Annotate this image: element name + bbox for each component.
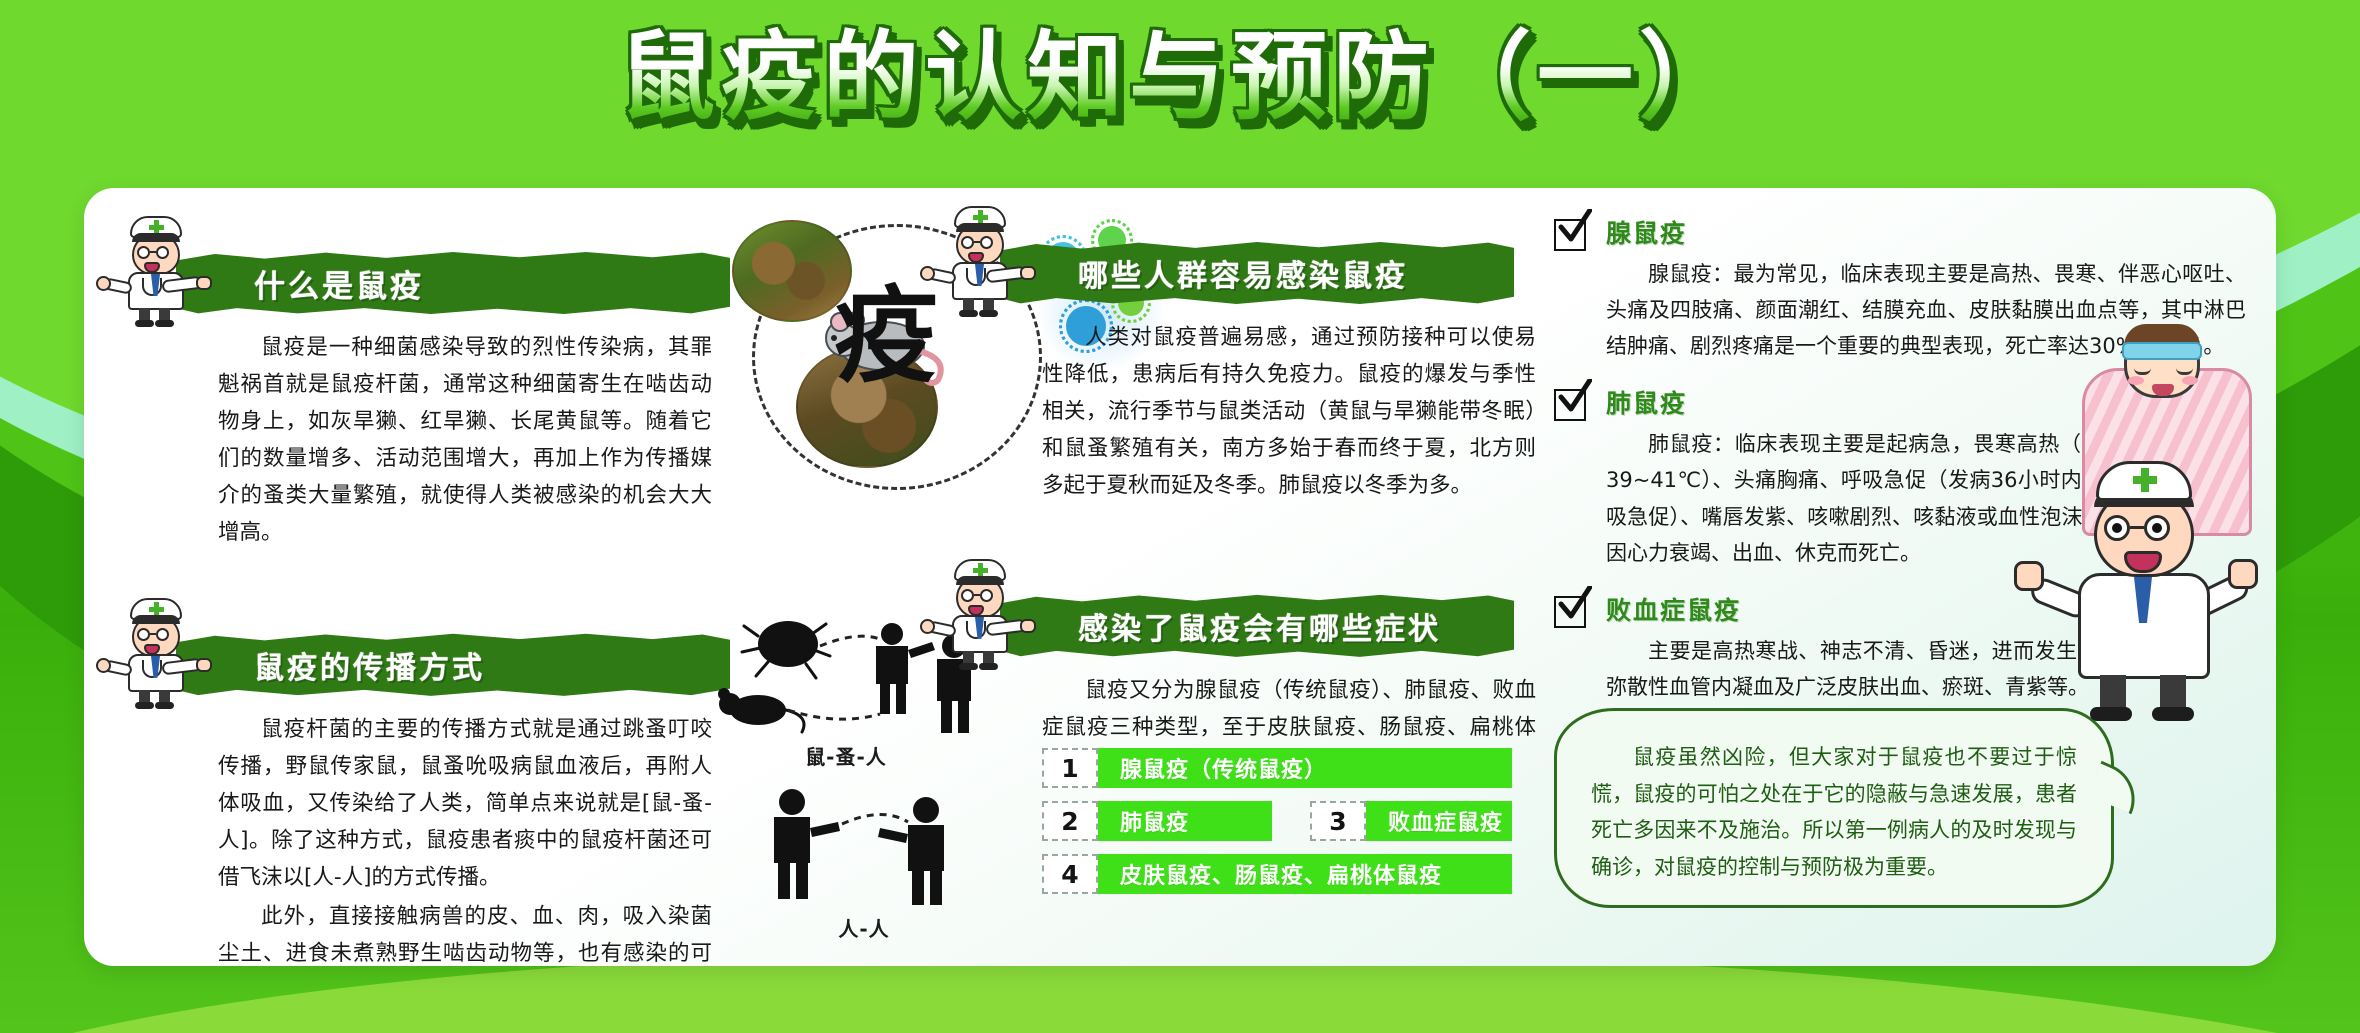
doctor-pointing-icon [110, 598, 202, 708]
right-column: 腺鼠疫 腺鼠疫：最为常见，临床表现主要是高热、畏寒、伴恶心呕吐、头痛及四肢痛、颜… [1554, 210, 2254, 721]
section-heading-ribbon: 鼠疫的传播方式 [176, 632, 730, 698]
section-heading-ribbon: 哪些人群容易感染鼠疫 [1000, 240, 1514, 306]
list-item-number: 3 [1310, 801, 1366, 841]
diagram-label: 人-人 [734, 913, 994, 942]
checkmark-icon [1554, 384, 1590, 420]
content-panel: 什么是鼠疫 鼠疫是一种细菌感染导致的烈性传染病，其罪魁祸首就是鼠疫杆菌，通常这种… [84, 188, 2276, 966]
speech-bubble: 鼠疫虽然凶险，但大家对于鼠疫也不要过于惊慌，鼠疫的可怕之处在于它的隐蔽与急速发展… [1554, 708, 2114, 908]
list-item: 1 腺鼠疫（传统鼠疫） [1042, 748, 1512, 788]
list-item-label: 腺鼠疫（传统鼠疫） [1098, 748, 1512, 788]
checkmark-icon [1554, 591, 1590, 627]
doctor-pointing-icon [934, 206, 1026, 316]
section-heading-label: 鼠疫的传播方式 [254, 643, 485, 687]
section-paragraph: 鼠疫杆菌的主要的传播方式就是通过跳蚤叮咬传播，野鼠传家鼠，鼠蚤吮吸病鼠血液后，再… [218, 712, 712, 897]
check-block-title: 肺鼠疫 [1606, 384, 1687, 420]
heading-row: 什么是鼠疫 [110, 214, 730, 326]
middle-column: 哪些人群容易感染鼠疫 人类对鼠疫普遍易感，通过预防接种可以使易性降低，患病后有持… [934, 188, 1514, 784]
list-item-number: 1 [1042, 748, 1098, 788]
section-heading-label: 哪些人群容易感染鼠疫 [1078, 251, 1408, 295]
speech-bubble-text: 鼠疫虽然凶险，但大家对于鼠疫也不要过于惊慌，鼠疫的可怕之处在于它的隐蔽与急速发展… [1591, 739, 2077, 885]
list-item-label: 皮肤鼠疫、肠鼠疫、扁桃体鼠疫 [1098, 854, 1512, 894]
left-column: 什么是鼠疫 鼠疫是一种细菌感染导致的烈性传染病，其罪魁祸首就是鼠疫杆菌，通常这种… [110, 188, 730, 966]
section-who-is-susceptible: 哪些人群容易感染鼠疫 人类对鼠疫普遍易感，通过预防接种可以使易性降低，患病后有持… [934, 204, 1514, 505]
list-item-number: 4 [1042, 854, 1098, 894]
section-transmission: 鼠疫的传播方式 鼠疫杆菌的主要的传播方式就是通过跳蚤叮咬传播，野鼠传家鼠，鼠蚤吮… [110, 596, 730, 966]
section-heading-ribbon: 感染了鼠疫会有哪些症状 [1000, 593, 1514, 659]
illustration-center-character: 疫 [834, 284, 938, 388]
section-paragraph: 鼠疫是一种细菌感染导致的烈性传染病，其罪魁祸首就是鼠疫杆菌，通常这种细菌寄生在啮… [218, 330, 712, 552]
doctor-pointing-icon [934, 559, 1026, 669]
section-paragraph: 人类对鼠疫普遍易感，通过预防接种可以使易性降低，患病后有持久免疫力。鼠疫的爆发与… [1042, 320, 1536, 505]
section-paragraph: 此外，直接接触病兽的皮、血、肉，吸入染菌尘土、进食未煮熟野生啮齿动物等，也有感染… [218, 899, 712, 966]
heading-row: 感染了鼠疫会有哪些症状 [934, 557, 1514, 669]
poster-title-area: 鼠疫的认知与预防（一） [0, 26, 2360, 130]
list-item: 2 肺鼠疫 3 败血症鼠疫 [1042, 801, 1512, 841]
list-item: 4 皮肤鼠疫、肠鼠疫、扁桃体鼠疫 [1042, 854, 1512, 894]
section-what-is-plague: 什么是鼠疫 鼠疫是一种细菌感染导致的烈性传染病，其罪魁祸首就是鼠疫杆菌，通常这种… [110, 214, 730, 552]
diagram-human-human: 人-人 [734, 778, 994, 938]
checkmark-icon [1554, 214, 1590, 250]
check-block-title: 腺鼠疫 [1606, 214, 1687, 250]
check-block-title: 败血症鼠疫 [1606, 591, 1741, 627]
list-item-label: 肺鼠疫 [1098, 801, 1272, 841]
list-item-label: 败血症鼠疫 [1366, 801, 1512, 841]
plague-type-list: 1 腺鼠疫（传统鼠疫） 2 肺鼠疫 3 败血症鼠疫 4 皮肤鼠疫、肠鼠疫、扁桃体… [1042, 748, 1512, 907]
heading-row: 鼠疫的传播方式 [110, 596, 730, 708]
page-title: 鼠疫的认知与预防（一） [605, 26, 1755, 130]
section-heading-ribbon: 什么是鼠疫 [176, 250, 730, 316]
doctor-thumbs-up-illustration [2028, 455, 2258, 725]
check-heading-row: 腺鼠疫 [1554, 210, 2254, 254]
list-item-number: 2 [1042, 801, 1098, 841]
section-heading-label: 感染了鼠疫会有哪些症状 [1078, 604, 1441, 648]
heading-row: 哪些人群容易感染鼠疫 [934, 204, 1514, 316]
section-heading-label: 什么是鼠疫 [254, 261, 424, 306]
doctor-pointing-icon [110, 216, 202, 326]
